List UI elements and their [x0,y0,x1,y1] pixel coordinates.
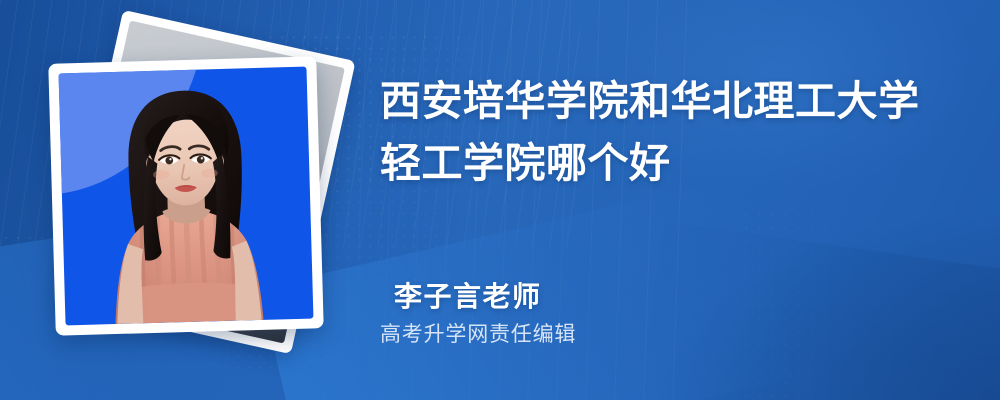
page-title: 西安培华学院和华北理工大学轻工学院哪个好 [380,70,960,194]
photo-stack [52,28,352,368]
article-banner: 西安培华学院和华北理工大学轻工学院哪个好 李子言老师 高考升学网责任编辑 [0,0,1000,400]
portrait-photo [59,67,314,326]
photo-card-front [48,56,323,335]
portrait-illustration [59,67,314,326]
author-role: 高考升学网责任编辑 [380,318,576,348]
text-column: 西安培华学院和华北理工大学轻工学院哪个好 李子言老师 高考升学网责任编辑 [380,0,980,400]
author-name: 李子言老师 [394,275,542,315]
